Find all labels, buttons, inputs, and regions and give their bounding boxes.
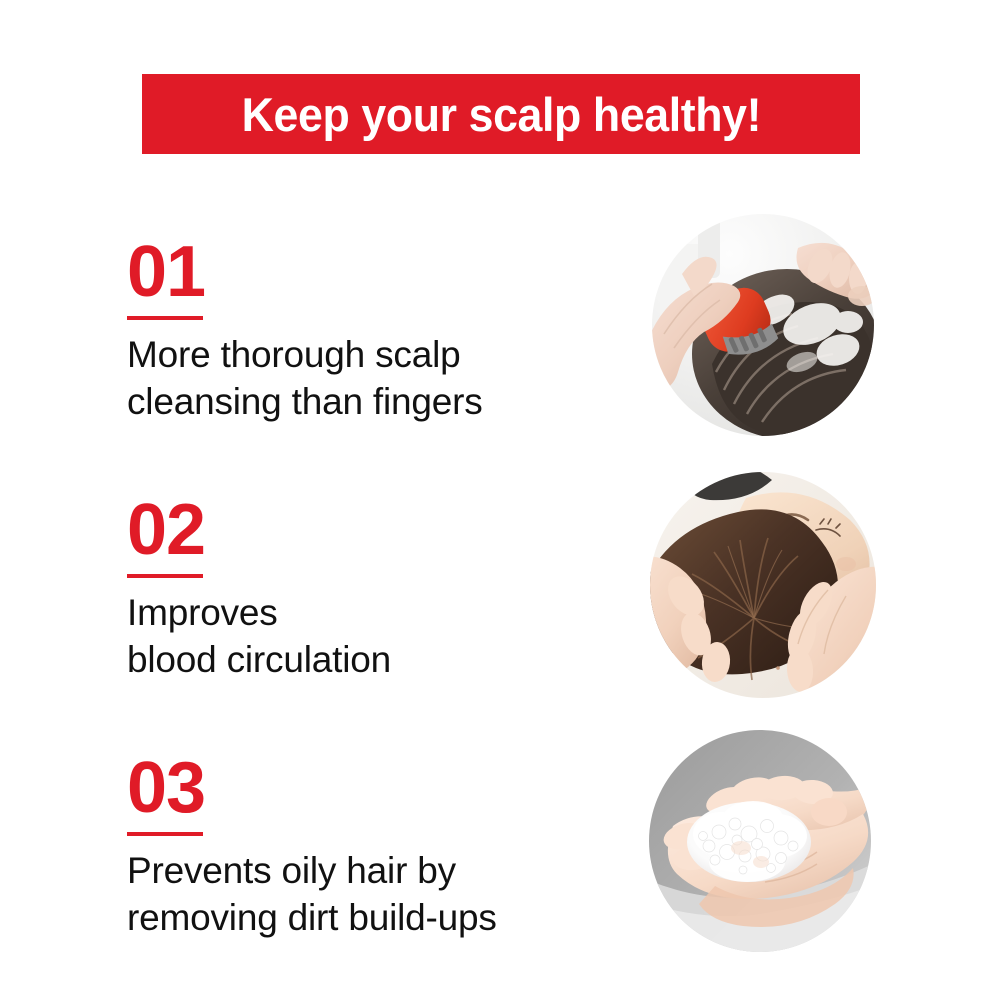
benefit-item-01: 01 More thorough scalp cleansing than fi…: [127, 243, 627, 501]
header-banner: Keep your scalp healthy!: [142, 74, 860, 154]
benefit-item-02: 02 Improves blood circulation: [127, 501, 627, 759]
infographic-poster: Keep your scalp healthy! 01 More thoroug…: [0, 0, 1000, 1000]
benefit-number-02: 02: [127, 501, 627, 560]
benefit-number-03: 03: [127, 759, 627, 818]
benefit-text-02: Improves blood circulation: [127, 589, 627, 683]
benefit-item-03: 03 Prevents oily hair by removing dirt b…: [127, 759, 627, 1000]
benefit-photo-01: [652, 214, 874, 436]
benefit-text-01: More thorough scalp cleansing than finge…: [127, 331, 627, 425]
benefit-number-01: 01: [127, 243, 627, 302]
benefit-photo-02: [650, 472, 876, 698]
benefits-list: 01 More thorough scalp cleansing than fi…: [127, 243, 627, 1000]
benefit-text-03: Prevents oily hair by removing dirt buil…: [127, 847, 627, 941]
benefit-divider-02: [127, 574, 203, 578]
benefit-divider-01: [127, 316, 203, 320]
page-title: Keep your scalp healthy!: [241, 91, 760, 138]
benefit-divider-03: [127, 832, 203, 836]
benefit-photo-03: [649, 730, 871, 952]
